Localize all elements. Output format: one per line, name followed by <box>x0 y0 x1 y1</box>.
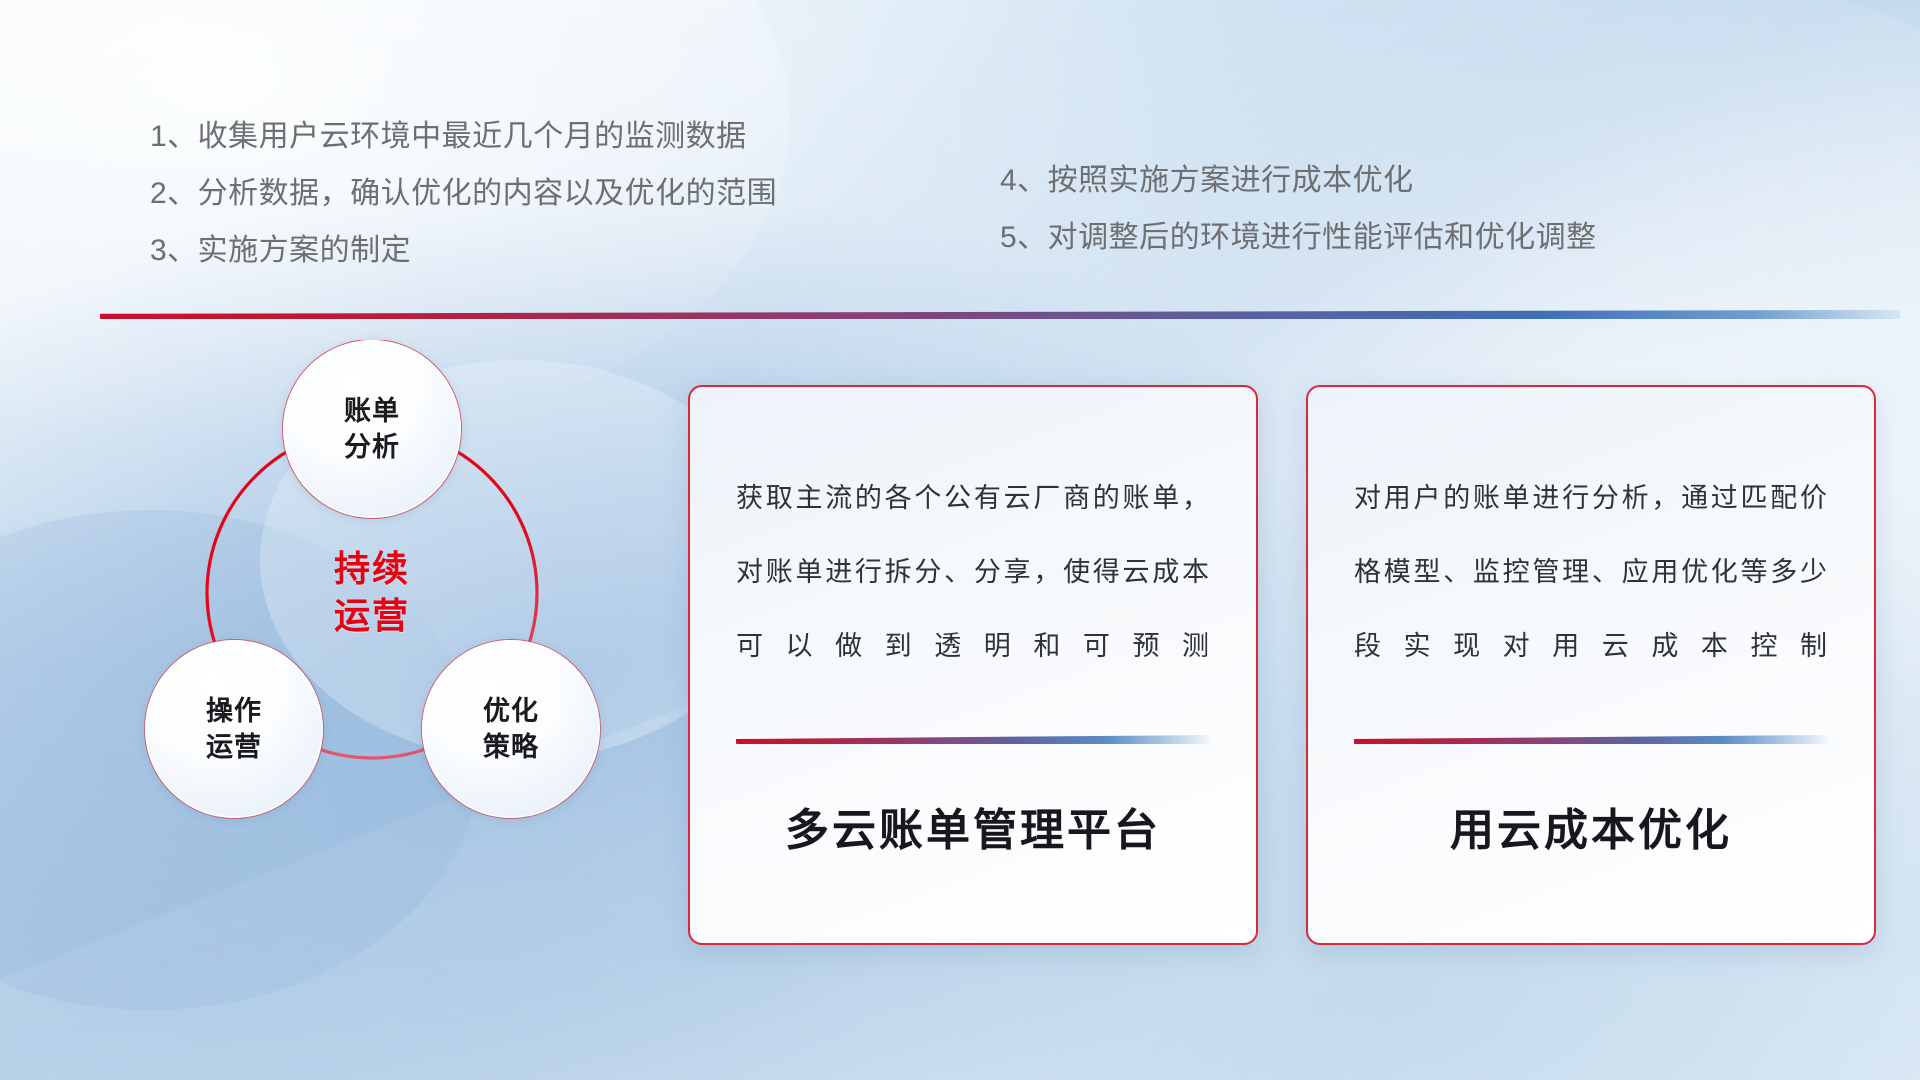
bubble-bill-analysis-line1: 账单 <box>344 393 400 429</box>
cycle-center-label-line2: 运营 <box>283 592 461 639</box>
bubble-bill-analysis-line2: 分析 <box>344 429 400 465</box>
card-multicloud-billing-divider <box>736 735 1210 744</box>
bubble-operation-management[interactable]: 操作 运营 <box>145 640 323 818</box>
steps-left-column: 1、收集用户云环境中最近几个月的监测数据 2、分析数据，确认优化的内容以及优化的… <box>150 108 777 279</box>
cycle-center-label: 持续 运营 <box>283 545 461 639</box>
card-cloud-cost-optimization[interactable]: 对用户的账单进行分析，通过匹配价格模型、监控管理、应用优化等多少段实现对用云成本… <box>1306 385 1876 945</box>
step-item-5: 5、对调整后的环境进行性能评估和优化调整 <box>1000 209 1597 266</box>
step-item-1: 1、收集用户云环境中最近几个月的监测数据 <box>150 108 777 165</box>
steps-right-column: 4、按照实施方案进行成本优化 5、对调整后的环境进行性能评估和优化调整 <box>1000 152 1597 266</box>
card-multicloud-billing[interactable]: 获取主流的各个公有云厂商的账单，对账单进行拆分、分享，使得云成本可以做到透明和可… <box>688 385 1258 945</box>
bubble-optimization-strategy-line2: 策略 <box>483 729 539 765</box>
bubble-bill-analysis[interactable]: 账单 分析 <box>283 340 461 518</box>
card-cloud-cost-optimization-body: 对用户的账单进行分析，通过匹配价格模型、监控管理、应用优化等多少段实现对用云成本… <box>1354 461 1828 683</box>
bubble-optimization-strategy[interactable]: 优化 策略 <box>422 640 600 818</box>
step-item-2: 2、分析数据，确认优化的内容以及优化的范围 <box>150 165 777 222</box>
bubble-optimization-strategy-line1: 优化 <box>483 693 539 729</box>
card-multicloud-billing-title: 多云账单管理平台 <box>736 794 1210 858</box>
card-cloud-cost-optimization-divider <box>1354 735 1828 744</box>
cycle-diagram: 账单 分析 操作 运营 优化 策略 持续 运营 <box>95 340 655 960</box>
card-cloud-cost-optimization-title: 用云成本优化 <box>1354 794 1828 858</box>
step-item-3: 3、实施方案的制定 <box>150 222 777 279</box>
bubble-operation-management-line1: 操作 <box>206 693 262 729</box>
bubble-operation-management-line2: 运营 <box>206 729 262 765</box>
step-item-4: 4、按照实施方案进行成本优化 <box>1000 152 1597 209</box>
card-multicloud-billing-body: 获取主流的各个公有云厂商的账单，对账单进行拆分、分享，使得云成本可以做到透明和可… <box>736 461 1210 683</box>
cycle-center-label-line1: 持续 <box>283 545 461 592</box>
